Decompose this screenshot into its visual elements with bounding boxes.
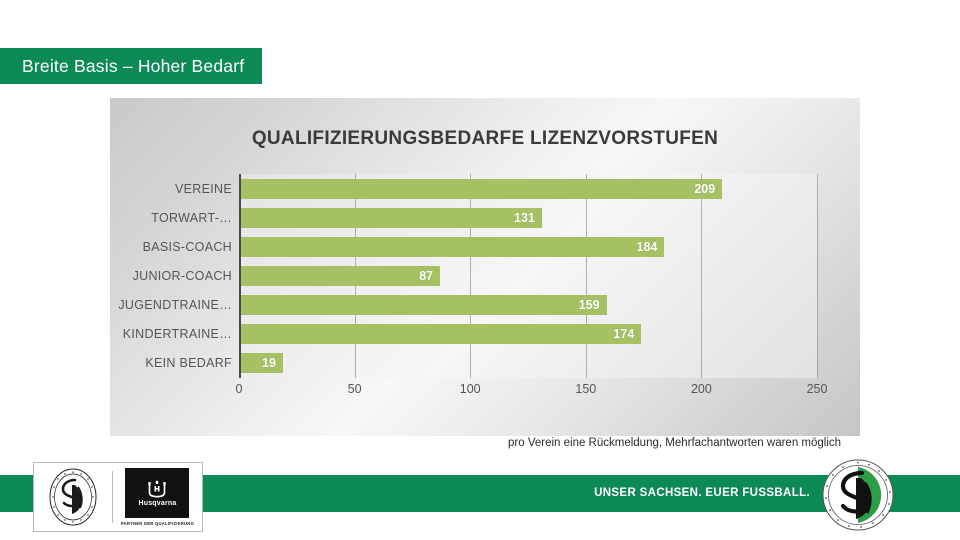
slide-root: Breite Basis – Hoher Bedarf QUALIFIZIERU… [0, 0, 960, 540]
bar[interactable]: 209 [239, 179, 722, 199]
category-label: JUNIOR-COACH [110, 261, 239, 290]
sfv-round-icon [822, 459, 894, 531]
bar-row[interactable]: 159 [239, 291, 607, 320]
sfv-oval-icon [48, 467, 98, 527]
husqvarna-partner-text: PARTNER DER QUALIFIZIERUNG [121, 521, 194, 526]
bar-value-label: 209 [694, 182, 722, 196]
category-label: KINDERTRAINE… [110, 320, 239, 349]
bar-value-label: 87 [419, 269, 440, 283]
bar-value-label: 19 [262, 356, 283, 370]
category-label: TORWART-… [110, 203, 239, 232]
partner-logo-box: Husqvarna PARTNER DER QUALIFIZIERUNG [33, 462, 203, 532]
category-label: KEIN BEDARF [110, 349, 239, 378]
x-tick-label: 200 [691, 382, 712, 396]
x-tick-label: 250 [807, 382, 828, 396]
x-tick-label: 100 [460, 382, 481, 396]
value-axis-line [239, 174, 241, 378]
husqvarna-badge: Husqvarna [125, 468, 189, 518]
chart-title: QUALIFIZIERUNGSBEDARFE LIZENZVORSTUFEN [110, 128, 860, 150]
husqvarna-wordmark: Husqvarna [138, 500, 176, 507]
title-banner: Breite Basis – Hoher Bedarf [0, 48, 262, 84]
footer-tagline: UNSER SACHSEN. EUER FUSSBALL. [594, 487, 810, 499]
bar-row[interactable]: 131 [239, 203, 542, 232]
husqvarna-logo: Husqvarna PARTNER DER QUALIFIZIERUNG [121, 468, 194, 526]
x-tick-label: 150 [575, 382, 596, 396]
gridline [701, 174, 702, 378]
x-axis-ticks: 050100150200250 [239, 382, 817, 402]
bar-row[interactable]: 87 [239, 261, 440, 290]
bar[interactable]: 19 [239, 353, 283, 373]
bar-row[interactable]: 209 [239, 174, 722, 203]
gridline [817, 174, 818, 378]
bar-value-label: 159 [579, 298, 607, 312]
bar[interactable]: 174 [239, 324, 641, 344]
category-label: BASIS-COACH [110, 232, 239, 261]
bar[interactable]: 184 [239, 237, 664, 257]
category-label: JUGENDTRAINE… [110, 291, 239, 320]
x-tick-label: 0 [236, 382, 243, 396]
bar-row[interactable]: 174 [239, 320, 641, 349]
bar[interactable]: 131 [239, 208, 542, 228]
chart-footnote: pro Verein eine Rückmeldung, Mehrfachant… [508, 437, 841, 449]
sfv-oval-logo [42, 467, 104, 527]
slide-title: Breite Basis – Hoher Bedarf [22, 56, 244, 77]
category-label: VEREINE [110, 174, 239, 203]
bar-value-label: 131 [514, 211, 542, 225]
chart-panel: QUALIFIZIERUNGSBEDARFE LIZENZVORSTUFEN V… [110, 98, 860, 436]
bar[interactable]: 87 [239, 266, 440, 286]
bar-value-label: 184 [637, 240, 665, 254]
logo-divider [112, 471, 113, 523]
x-tick-label: 50 [348, 382, 362, 396]
category-axis: VEREINETORWART-…BASIS-COACHJUNIOR-COACHJ… [110, 174, 239, 378]
sfv-round-logo [822, 459, 894, 531]
bar-row[interactable]: 19 [239, 349, 283, 378]
plot-area: 2091311848715917419 [239, 174, 817, 378]
bar[interactable]: 159 [239, 295, 607, 315]
husqvarna-crown-icon [147, 480, 167, 498]
bar-value-label: 174 [613, 327, 641, 341]
bar-row[interactable]: 184 [239, 232, 664, 261]
